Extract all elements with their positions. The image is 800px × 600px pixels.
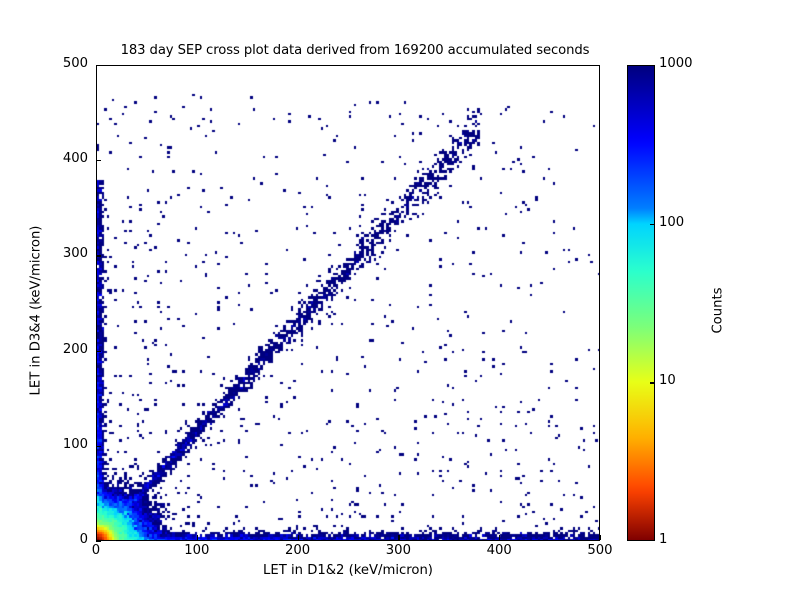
y-tick-400 — [96, 160, 101, 161]
x-ticklabel-500: 500 — [570, 543, 630, 558]
x-ticklabel-200: 200 — [268, 543, 328, 558]
y-ticklabel-400: 400 — [28, 151, 88, 166]
scatter-heatmap — [97, 66, 600, 541]
x-ticklabel-100: 100 — [167, 543, 227, 558]
x-tick-500 — [600, 535, 601, 540]
plot-area — [96, 65, 600, 541]
colorbar-ticklabel-1000: 1000 — [659, 56, 693, 71]
x-tick-0 — [96, 535, 97, 540]
x-ticklabel-400: 400 — [469, 543, 529, 558]
colorbar — [627, 65, 655, 541]
y-tick-300 — [96, 255, 101, 256]
colorbar-ticklabel-10: 10 — [659, 373, 676, 388]
x-tick-300 — [398, 535, 399, 540]
x-axis-label: LET in D1&2 (keV/micron) — [96, 563, 600, 578]
y-tick-100 — [96, 446, 101, 447]
y-axis-label: LET in D3&4 (keV/micron) — [29, 171, 44, 451]
y-ticklabel-0: 0 — [28, 532, 88, 547]
title-line-1: 183 day SEP cross plot data derived from… — [0, 42, 710, 59]
y-tick-200 — [96, 351, 101, 352]
colorbar-ticklabel-1: 1 — [659, 532, 667, 547]
y-tick-0 — [96, 541, 101, 542]
x-tick-100 — [197, 535, 198, 540]
y-ticklabel-500: 500 — [28, 56, 88, 71]
x-tick-400 — [499, 535, 500, 540]
figure-canvas: 183 day SEP cross plot data derived from… — [0, 0, 800, 600]
colorbar-tick-100 — [650, 224, 655, 225]
x-ticklabel-300: 300 — [368, 543, 428, 558]
y-tick-500 — [96, 65, 101, 66]
x-tick-200 — [298, 535, 299, 540]
colorbar-ticklabel-100: 100 — [659, 215, 684, 230]
colorbar-tick-10 — [650, 382, 655, 383]
colorbar-gradient — [628, 66, 654, 540]
colorbar-label: Counts — [711, 221, 726, 401]
